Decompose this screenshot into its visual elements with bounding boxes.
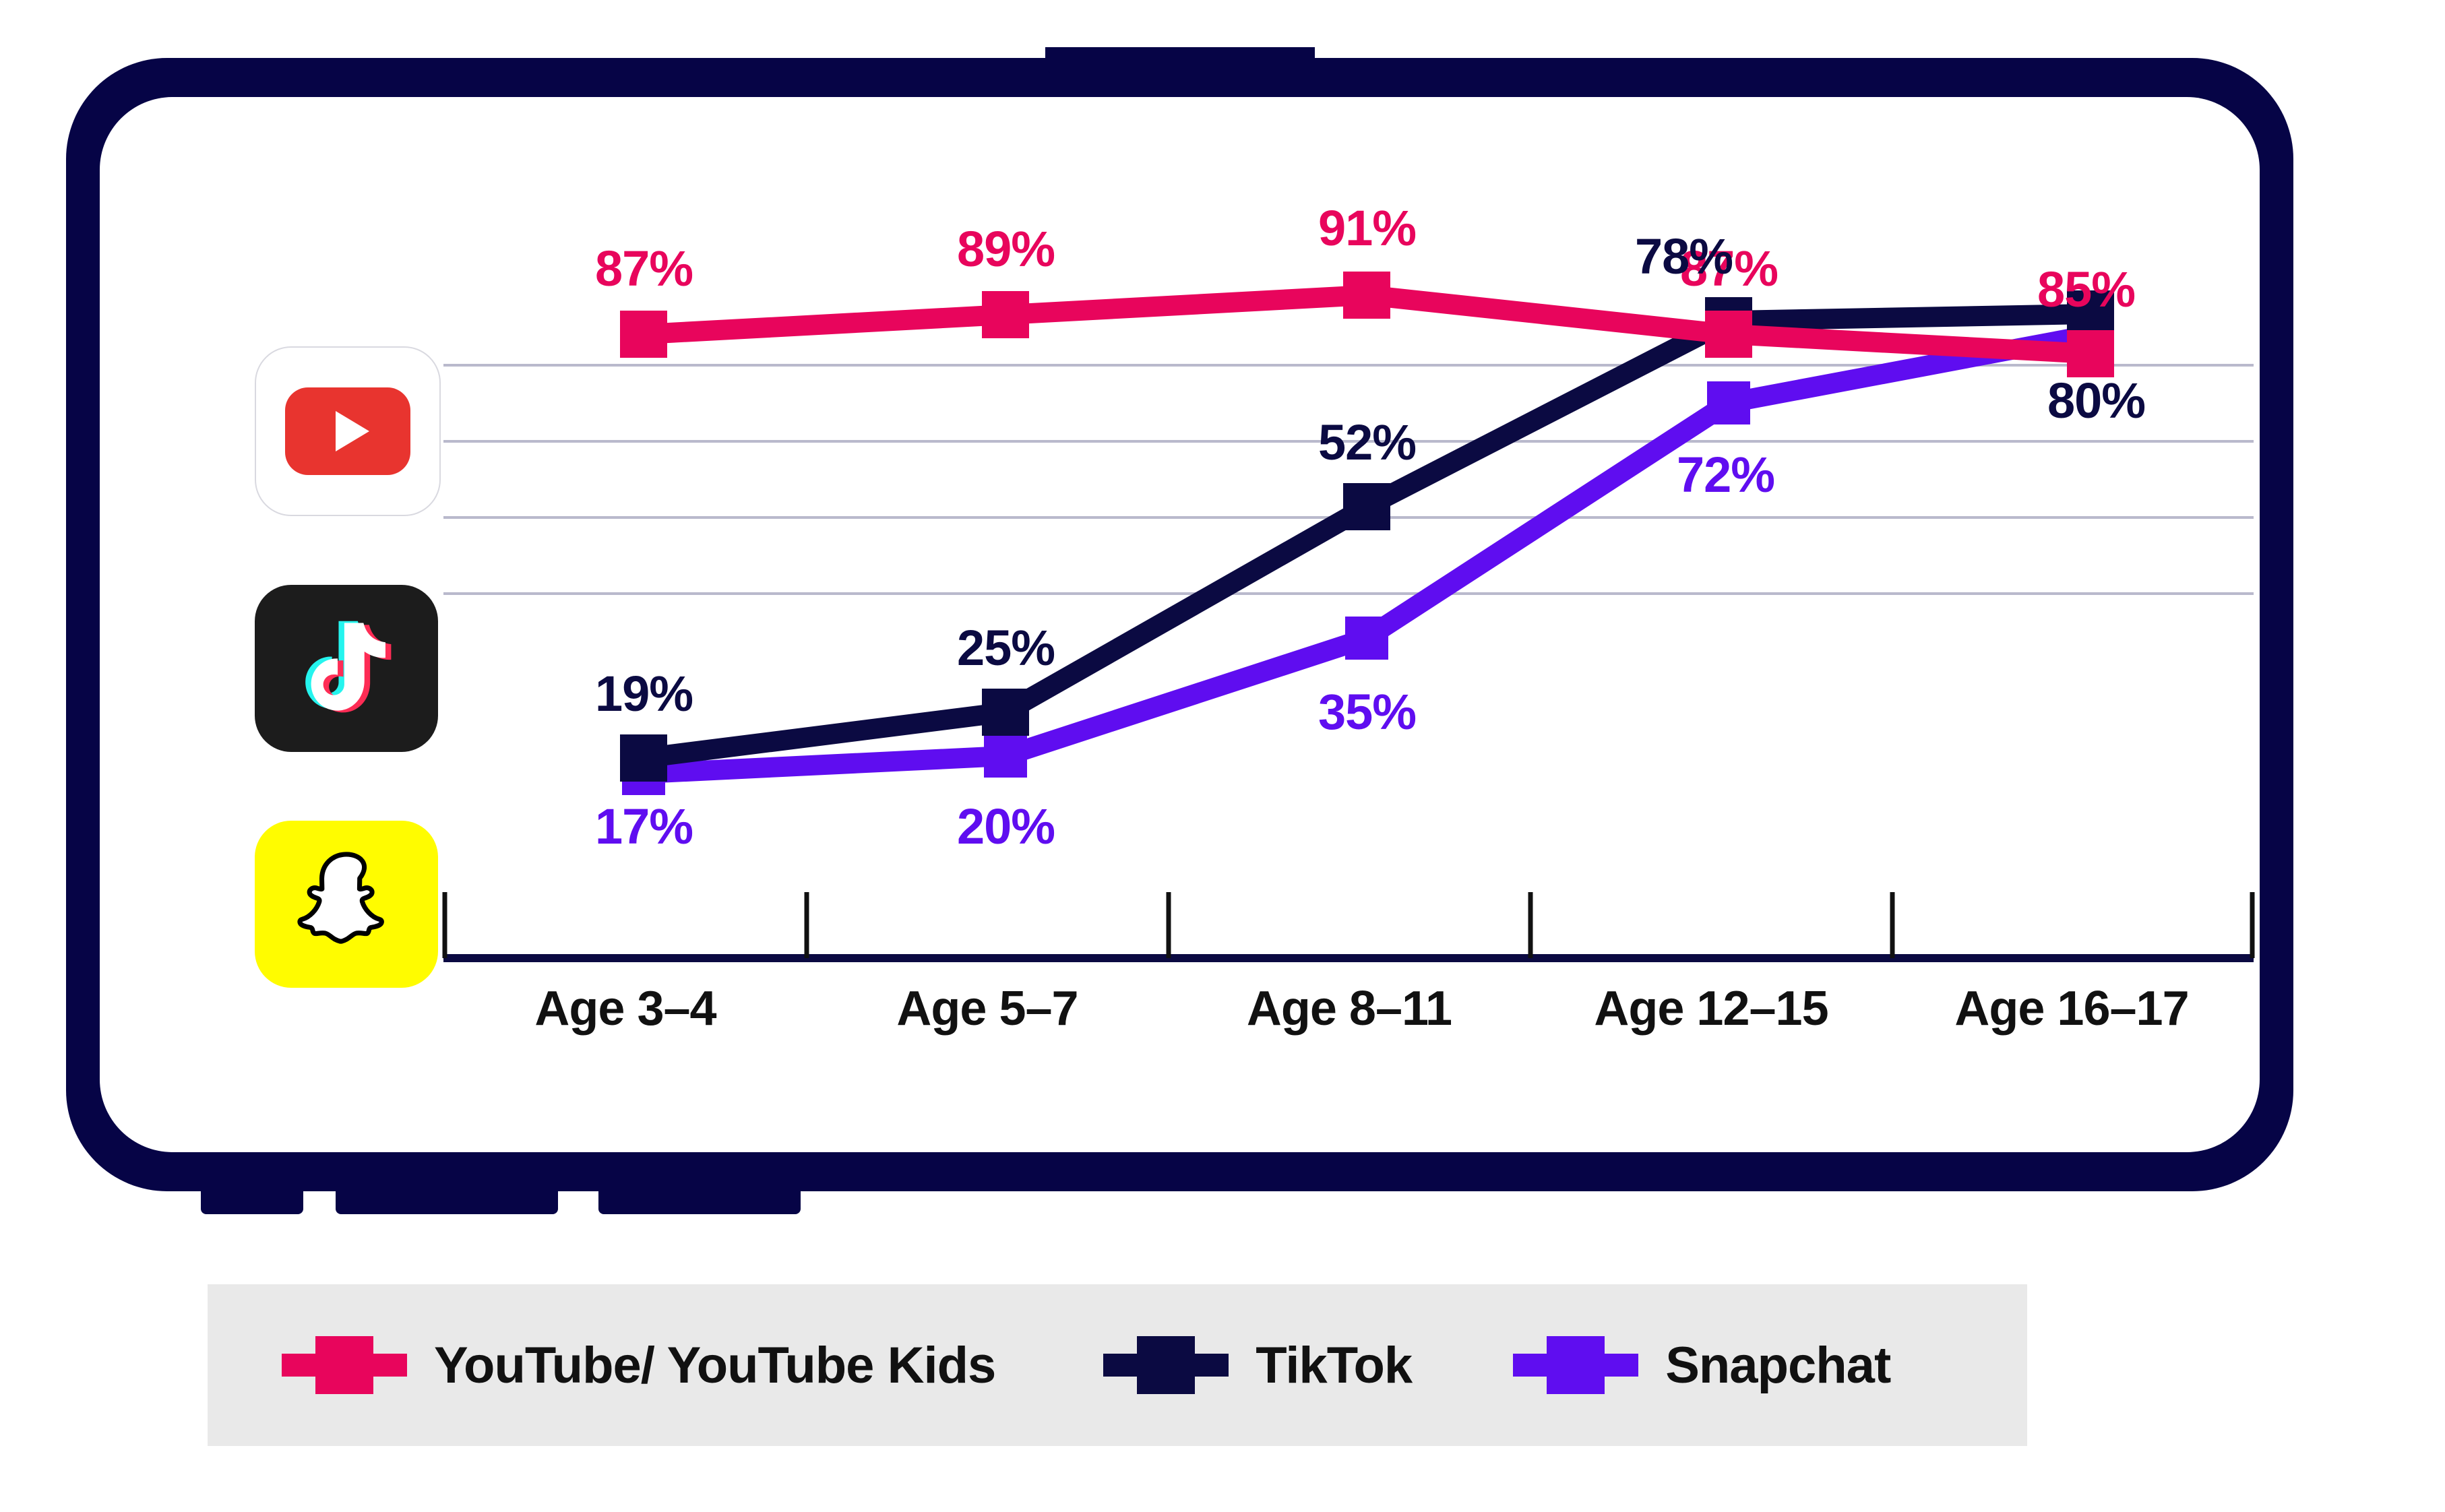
tiktok-marker-1	[982, 689, 1029, 736]
x-axis-label-4: Age 16–17	[1890, 981, 2254, 1036]
data-label-snapchat-1: 20%	[957, 798, 1055, 855]
snapchat-marker-3	[1707, 381, 1750, 424]
youtube-marker-1	[982, 291, 1029, 338]
x-axis-label-3: Age 12–15	[1529, 981, 1893, 1036]
line-chart: 87% 89% 91% 87% 85% 19% 25% 52% 78% 80% …	[100, 97, 2260, 1152]
legend-label-snapchat: Snapchat	[1665, 1336, 1890, 1395]
legend-marker-snapchat-icon	[1513, 1336, 1638, 1394]
legend-marker-tiktok-icon	[1103, 1336, 1229, 1394]
legend-item-youtube[interactable]: YouTube/ YouTube Kids	[282, 1336, 995, 1395]
x-axis	[443, 892, 2254, 958]
data-label-youtube-0: 87%	[595, 240, 693, 297]
snapchat-marker-2	[1345, 617, 1388, 660]
phone-foot-middle	[336, 1190, 558, 1214]
data-label-tiktok-3: 78%	[1635, 228, 1733, 285]
data-label-snapchat-0: 17%	[595, 798, 693, 855]
data-label-youtube-4: 85%	[2037, 261, 2135, 318]
youtube-marker-3	[1705, 311, 1752, 358]
legend-label-tiktok: TikTok	[1256, 1336, 1412, 1395]
gridlines	[443, 365, 2254, 594]
snapchat-marker-1	[984, 734, 1027, 778]
youtube-marker-2	[1343, 272, 1390, 319]
youtube-marker-4	[2067, 330, 2114, 377]
tiktok-marker-0	[620, 734, 667, 782]
phone-notch	[1045, 47, 1315, 74]
legend-item-tiktok[interactable]: TikTok	[1103, 1336, 1412, 1395]
phone-foot-right	[598, 1190, 801, 1214]
data-label-tiktok-2: 52%	[1318, 414, 1416, 471]
data-label-tiktok-1: 25%	[957, 619, 1055, 676]
legend-item-snapchat[interactable]: Snapchat	[1513, 1336, 1890, 1395]
x-axis-label-0: Age 3–4	[443, 981, 807, 1036]
youtube-marker-0	[620, 311, 667, 358]
x-axis-label-2: Age 8–11	[1167, 981, 1531, 1036]
x-axis-ticks	[445, 892, 2252, 958]
data-label-youtube-2: 91%	[1318, 199, 1416, 257]
data-label-snapchat-2: 35%	[1318, 683, 1416, 741]
phone-mockup: 87% 89% 91% 87% 85% 19% 25% 52% 78% 80% …	[66, 58, 2293, 1191]
data-label-youtube-1: 89%	[957, 220, 1055, 278]
data-label-tiktok-4: 80%	[2047, 372, 2145, 429]
tiktok-marker-2	[1343, 483, 1390, 530]
screenshot-root: 87% 89% 91% 87% 85% 19% 25% 52% 78% 80% …	[0, 0, 2445, 1512]
phone-foot-left	[201, 1190, 303, 1214]
legend-marker-youtube-icon	[282, 1336, 407, 1394]
data-label-snapchat-3: 72%	[1677, 446, 1774, 503]
phone-screen: 87% 89% 91% 87% 85% 19% 25% 52% 78% 80% …	[100, 97, 2260, 1152]
chart-legend: YouTube/ YouTube Kids TikTok Snapchat	[208, 1284, 2027, 1446]
x-axis-label-1: Age 5–7	[805, 981, 1169, 1036]
legend-label-youtube: YouTube/ YouTube Kids	[434, 1336, 995, 1395]
data-label-tiktok-0: 19%	[595, 665, 693, 722]
